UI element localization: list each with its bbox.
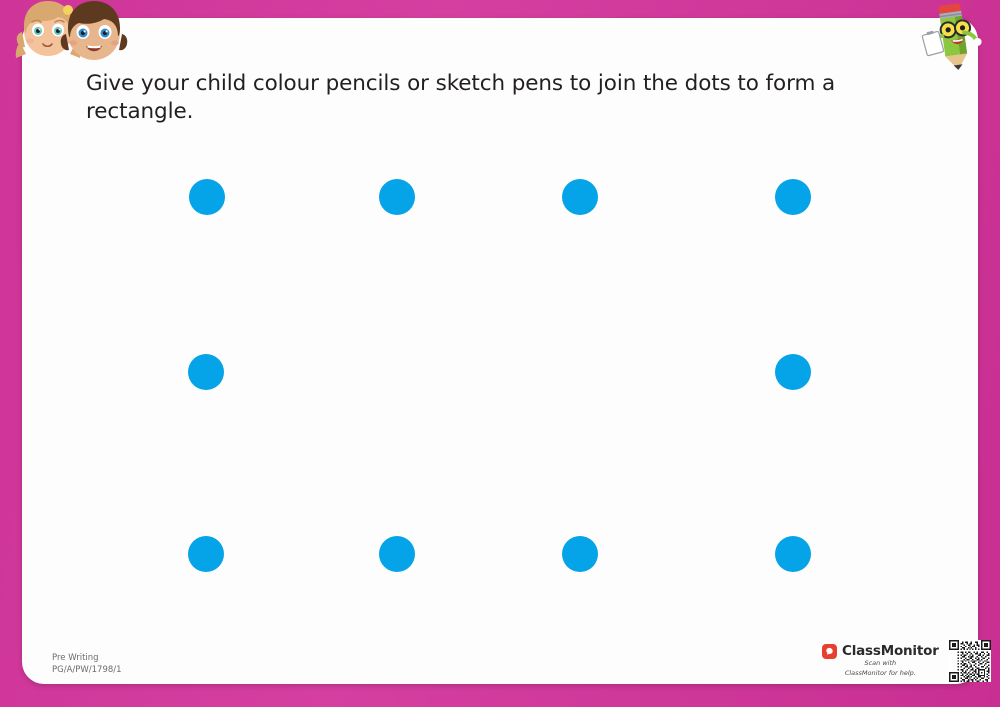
brand-text-column: ClassMonitor Scan with ClassMonitor for … — [822, 640, 939, 679]
classmonitor-logo-icon — [822, 644, 837, 659]
qr-code-icon[interactable] — [949, 640, 991, 682]
brand-row: ClassMonitor — [822, 643, 939, 659]
two-children-faces-icon — [6, 0, 142, 64]
worksheet-category: Pre Writing — [52, 652, 122, 664]
brand-block: ClassMonitor Scan with ClassMonitor for … — [822, 640, 991, 682]
brand-tagline-line-1: Scan with — [864, 659, 896, 669]
worksheet-page: Give your child colour pencils or sketch… — [0, 0, 1000, 707]
pencil-character-with-clipboard-icon — [916, 2, 994, 76]
worksheet-code: PG/A/PW/1798/1 — [52, 664, 122, 676]
instruction-text: Give your child colour pencils or sketch… — [86, 70, 906, 126]
footer-meta: Pre Writing PG/A/PW/1798/1 — [52, 652, 122, 677]
brand-tagline-line-2: ClassMonitor for help. — [845, 669, 916, 679]
brand-name: ClassMonitor — [842, 643, 939, 659]
